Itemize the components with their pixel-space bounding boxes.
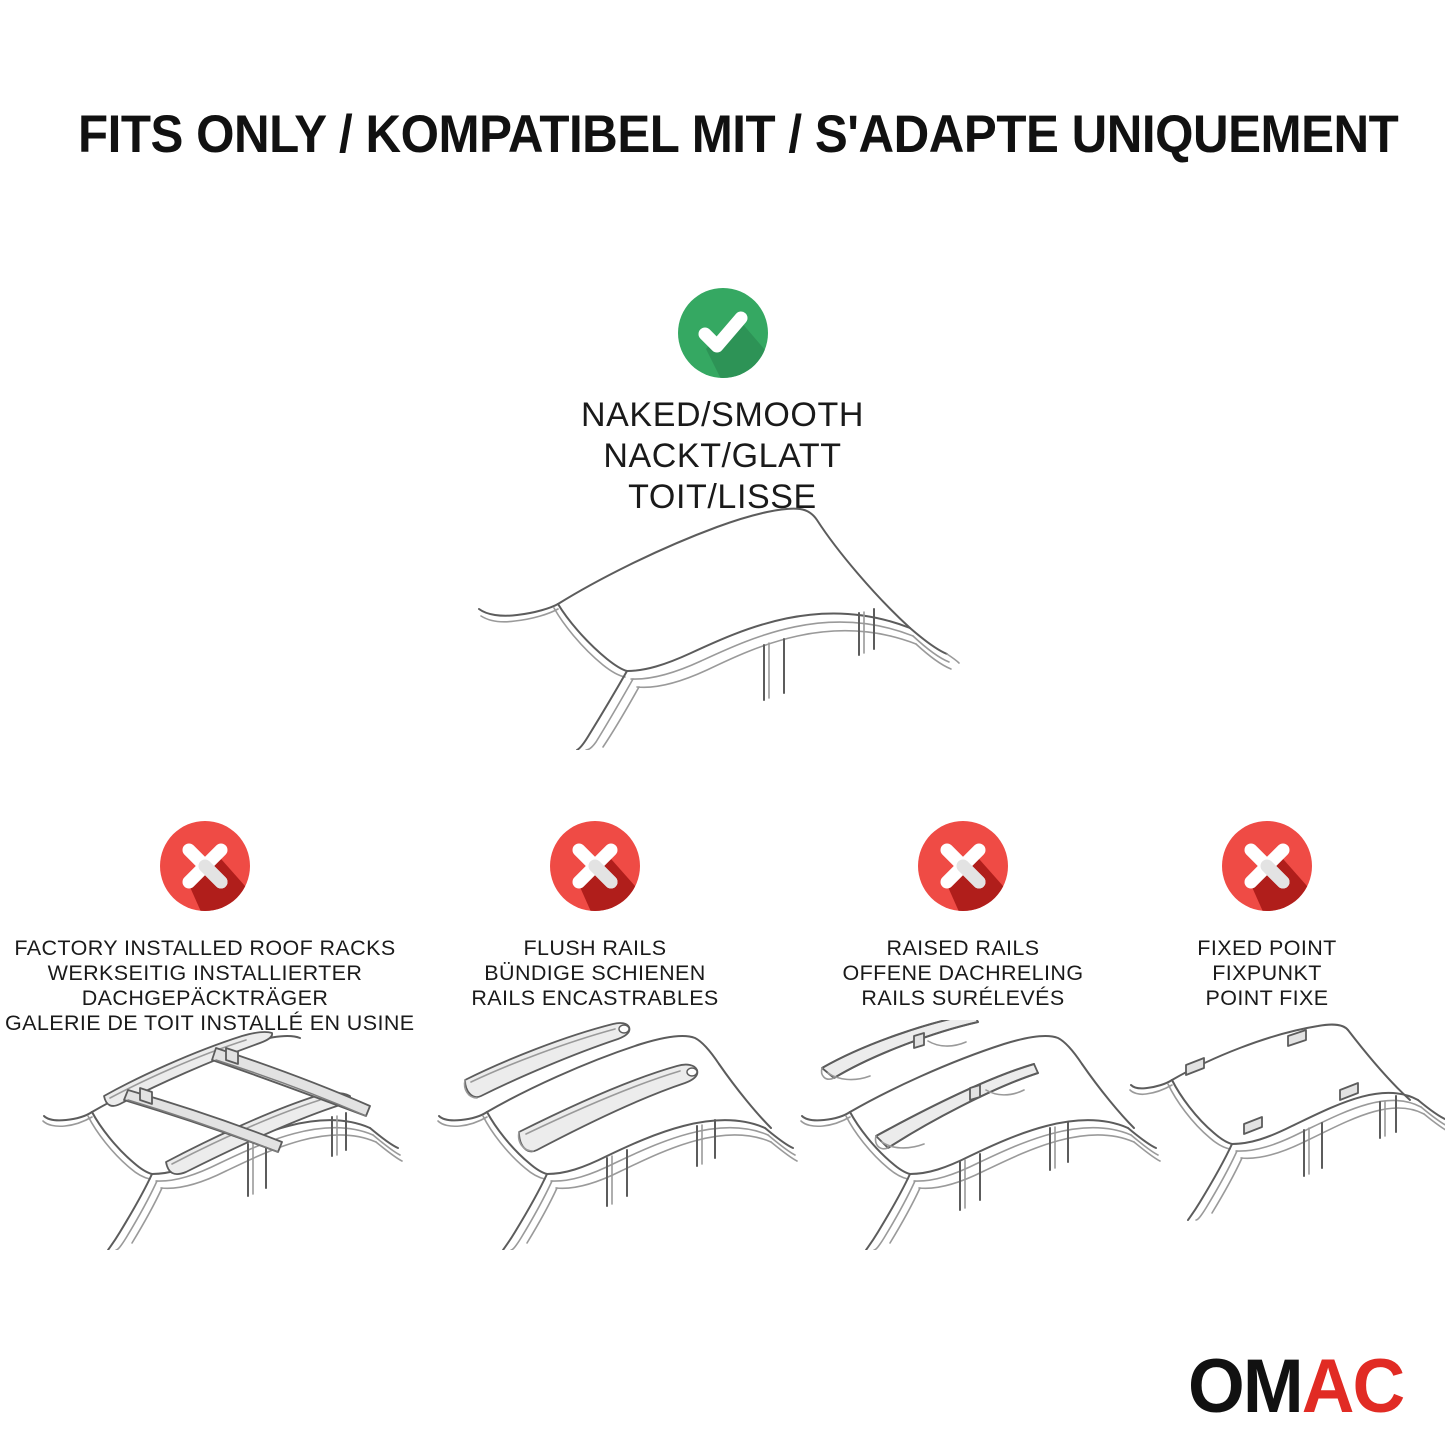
check-circle-icon bbox=[675, 285, 771, 381]
logo-wordmark: OMAC bbox=[1188, 1350, 1411, 1424]
label-line-3: RAILS SURÉLEVÉS bbox=[768, 986, 1158, 1011]
incompatible-item-fixed-point: FIXED POINT FIXPUNKT POINT FIXE bbox=[1120, 818, 1414, 1011]
label-line-1: FIXED POINT bbox=[1120, 936, 1414, 961]
label-line-3: RAILS ENCASTRABLES bbox=[400, 986, 790, 1011]
x-circle-icon bbox=[157, 818, 253, 914]
logo-part-red: AC bbox=[1302, 1344, 1404, 1429]
compatible-label-en: NAKED/SMOOTH bbox=[0, 395, 1445, 436]
incompatible-labels-flush: FLUSH RAILS BÜNDIGE SCHIENEN RAILS ENCAS… bbox=[400, 936, 790, 1011]
compatible-label-de: NACKT/GLATT bbox=[0, 436, 1445, 477]
infographic-canvas: FITS ONLY / KOMPATIBEL MIT / S'ADAPTE UN… bbox=[0, 0, 1445, 1445]
label-line-2: FIXPUNKT bbox=[1120, 961, 1414, 986]
label-line-3: POINT FIXE bbox=[1120, 986, 1414, 1011]
x-circle-icon bbox=[915, 818, 1011, 914]
car-roof-flush-rails-illustration bbox=[415, 1020, 815, 1250]
incompatible-item-flush-rails: FLUSH RAILS BÜNDIGE SCHIENEN RAILS ENCAS… bbox=[400, 818, 790, 1011]
incompatible-labels-raised: RAISED RAILS OFFENE DACHRELING RAILS SUR… bbox=[768, 936, 1158, 1011]
brand-logo: OMAC bbox=[1188, 1350, 1420, 1424]
compatible-section: NAKED/SMOOTH NACKT/GLATT TOIT/LISSE bbox=[0, 285, 1445, 518]
label-line-2: BÜNDIGE SCHIENEN bbox=[400, 961, 790, 986]
car-roof-factory-rack-illustration bbox=[20, 1020, 420, 1250]
x-circle-icon bbox=[1219, 818, 1315, 914]
label-line-2: OFFENE DACHRELING bbox=[768, 961, 1158, 986]
incompatible-item-factory-installed-roof-racks: FACTORY INSTALLED ROOF RACKS WERKSEITIG … bbox=[5, 818, 405, 1037]
logo-part-dark: OM bbox=[1188, 1344, 1302, 1429]
car-roof-fixed-point-illustration bbox=[1128, 1020, 1445, 1250]
car-roof-raised-rails-illustration bbox=[778, 1020, 1178, 1250]
car-roof-naked-smooth-illustration bbox=[455, 495, 1000, 750]
label-line-1: FACTORY INSTALLED ROOF RACKS bbox=[5, 936, 405, 961]
label-line-2: WERKSEITIG INSTALLIERTER bbox=[5, 961, 405, 986]
label-line-1: FLUSH RAILS bbox=[400, 936, 790, 961]
x-circle-icon bbox=[547, 818, 643, 914]
incompatible-item-raised-rails: RAISED RAILS OFFENE DACHRELING RAILS SUR… bbox=[768, 818, 1158, 1011]
label-line-3: DACHGEPÄCKTRÄGER bbox=[5, 986, 405, 1011]
label-line-1: RAISED RAILS bbox=[768, 936, 1158, 961]
page-title: FITS ONLY / KOMPATIBEL MIT / S'ADAPTE UN… bbox=[78, 104, 1398, 165]
incompatible-labels-fixed-point: FIXED POINT FIXPUNKT POINT FIXE bbox=[1120, 936, 1414, 1011]
